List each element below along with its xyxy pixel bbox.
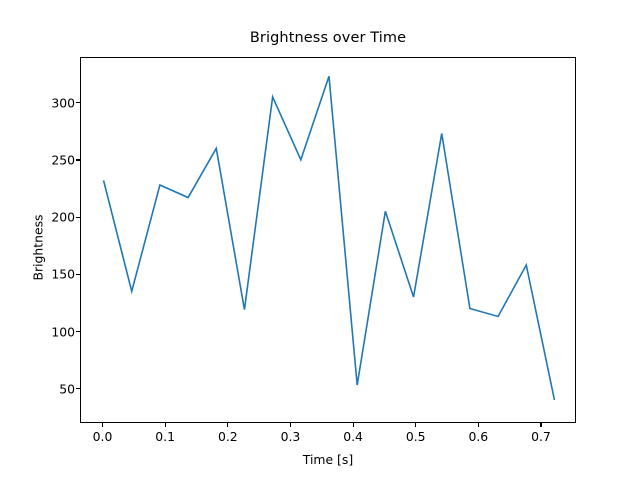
chart-title: Brightness over Time [80, 30, 576, 46]
brightness-line-series [104, 76, 555, 400]
x-tick-label: 0.1 [142, 429, 188, 444]
y-tick-label: 150 [35, 267, 75, 282]
y-tick-label: 200 [35, 210, 75, 225]
x-tick-label: 0.6 [455, 429, 501, 444]
x-tick-label: 0.2 [205, 429, 251, 444]
x-tick-label: 0.7 [518, 429, 564, 444]
x-tick-label: 0.5 [393, 429, 439, 444]
x-tick-label: 0.4 [330, 429, 376, 444]
chart-figure: Brightness over Time Brightness Time [s]… [0, 0, 640, 480]
x-tick-label: 0.3 [267, 429, 313, 444]
plot-axes-area [80, 57, 576, 423]
y-tick-label: 250 [35, 152, 75, 167]
x-axis-label: Time [s] [80, 452, 576, 467]
y-axis-tick-labels: 50100150200250300 [20, 0, 75, 480]
y-tick-label: 50 [35, 381, 75, 396]
line-series-svg [81, 58, 577, 424]
x-tick-label: 0.0 [80, 429, 126, 444]
y-tick-label: 300 [35, 95, 75, 110]
y-tick-label: 100 [35, 324, 75, 339]
